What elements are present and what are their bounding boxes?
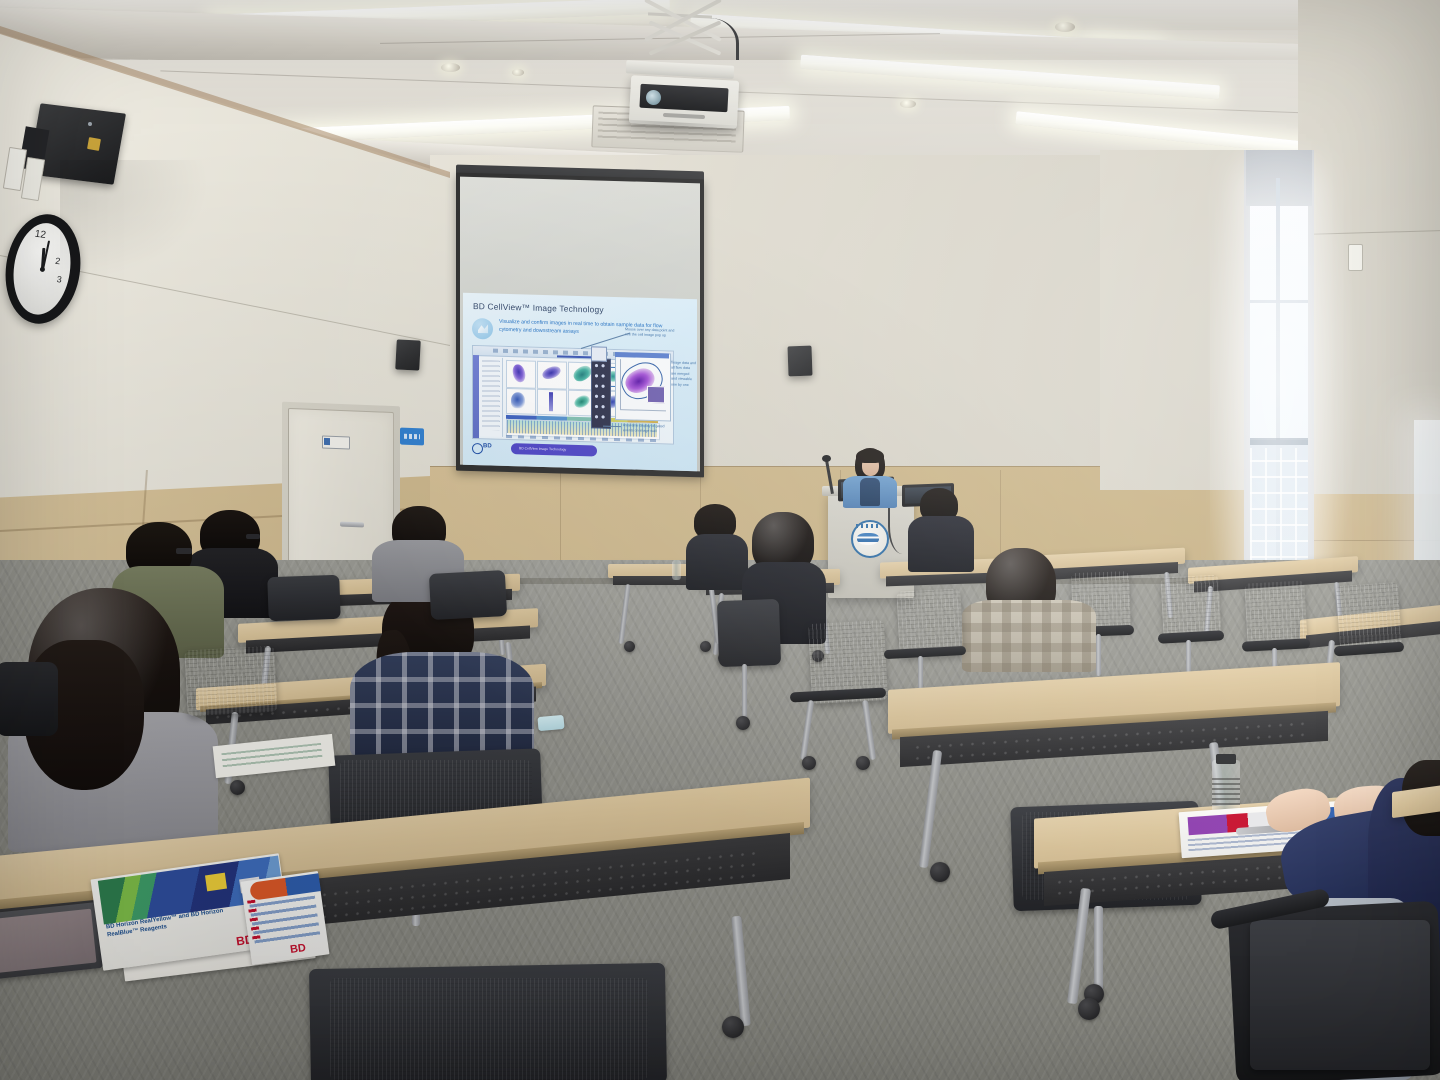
- ceiling-downlight-2: [512, 69, 524, 76]
- podium-emblem-wave: [857, 533, 879, 545]
- slide-callout-1: Mouse over any data point and see the ce…: [625, 327, 675, 339]
- slide-callout-2: Image data and all flow data are merged …: [671, 361, 696, 389]
- plot-r2-c1-data: [511, 392, 525, 408]
- attendee-olive-glasses: [176, 548, 192, 554]
- chair-back-row-1-leg: [1096, 634, 1101, 676]
- slide-footer-brand: BD: [483, 443, 492, 449]
- chair-mid-3-leg: [742, 664, 747, 720]
- attendee-check-body: [962, 600, 1096, 672]
- door-handle[interactable]: [340, 522, 364, 528]
- slide-inset-cell-popup: [647, 386, 665, 404]
- presenter-vest: [860, 478, 880, 506]
- wall-speaker-left-led: [88, 122, 92, 126]
- clock-numeral-12: 12: [34, 229, 47, 241]
- chair-mid-3-caster: [736, 716, 750, 730]
- attendee-black-shirt-glasses: [246, 534, 260, 539]
- desk-right-center-caster-a: [930, 862, 950, 882]
- sw-left-rail: [473, 355, 479, 438]
- desk-foreground-left-caster: [722, 1016, 744, 1038]
- chair-mid-1-caster-a: [802, 756, 816, 770]
- chair-mid-1-caster-b: [856, 756, 870, 770]
- chair-foreground-right-pad: [1250, 920, 1430, 1070]
- door-sign-icon: [324, 438, 330, 445]
- slide-footer-logo-circle: [472, 443, 483, 454]
- desk-foreground-right-caster: [1078, 998, 1100, 1020]
- light-switch-right[interactable]: [1348, 244, 1363, 271]
- plot-r2-c2-data: [549, 392, 553, 411]
- chair-back-row-2[interactable]: [1160, 575, 1221, 640]
- desk-mid-left-1-caster-b: [700, 641, 711, 652]
- slide-callout-3: Real-time display of gated events on ima…: [623, 423, 671, 435]
- attendee-suit-front-body: [908, 516, 974, 572]
- water-bottle-mid: [672, 560, 681, 580]
- chair-back-row-3[interactable]: [1244, 580, 1307, 647]
- wall-speaker-left-badge: [87, 137, 101, 151]
- chair-foreground-left-mesh: [330, 978, 648, 1080]
- desk-mid-left-1-caster-a: [624, 641, 635, 652]
- chair-right-center-leg: [1094, 906, 1103, 992]
- desk-left-front-caster-a: [230, 780, 245, 795]
- window-view-roofline: [1250, 438, 1308, 445]
- wall-speaker-mid: [395, 339, 421, 370]
- classroom-photo: 12 2 3 BD CellView™ Image Technology Vis…: [0, 0, 1440, 1080]
- podium-mic-head: [822, 455, 831, 462]
- water-bottle-foreground-label: [1212, 778, 1240, 806]
- backpack-left: [0, 662, 58, 736]
- slide-image-wall-top-cell: [591, 346, 607, 361]
- wall-speaker-right: [787, 346, 812, 377]
- ceiling-downlight-4: [1055, 22, 1075, 32]
- bd-brochure-front-chip-1: [205, 873, 227, 892]
- water-bottle-foreground-cap: [1216, 754, 1236, 764]
- slide-title: BD CellView™ Image Technology: [473, 301, 673, 317]
- ceiling-downlight-3: [900, 100, 916, 108]
- window-transom: [1250, 300, 1308, 303]
- slide-inset-axis-y: [620, 359, 621, 409]
- chair-mid-3-dark[interactable]: [717, 599, 781, 667]
- chair-left-2[interactable]: [429, 570, 507, 620]
- ceiling-downlight-1: [441, 63, 460, 72]
- slide-image-wall-cells: [593, 360, 607, 424]
- wall-sign-text: [404, 434, 420, 440]
- chair-left-1[interactable]: [267, 575, 340, 621]
- chair-left-3[interactable]: [184, 646, 277, 717]
- presenter-hair-front: [856, 449, 884, 463]
- attendee-plaid-body: [350, 652, 534, 760]
- tablet-foreground-screen[interactable]: [0, 909, 97, 974]
- podium-emblem-text: [856, 524, 880, 528]
- attendee-suit-left-body: [686, 534, 748, 590]
- sw-tree-rows: [482, 360, 500, 431]
- projected-slide: BD CellView™ Image Technology Visualize …: [463, 293, 697, 472]
- phone-on-desk[interactable]: [537, 715, 564, 731]
